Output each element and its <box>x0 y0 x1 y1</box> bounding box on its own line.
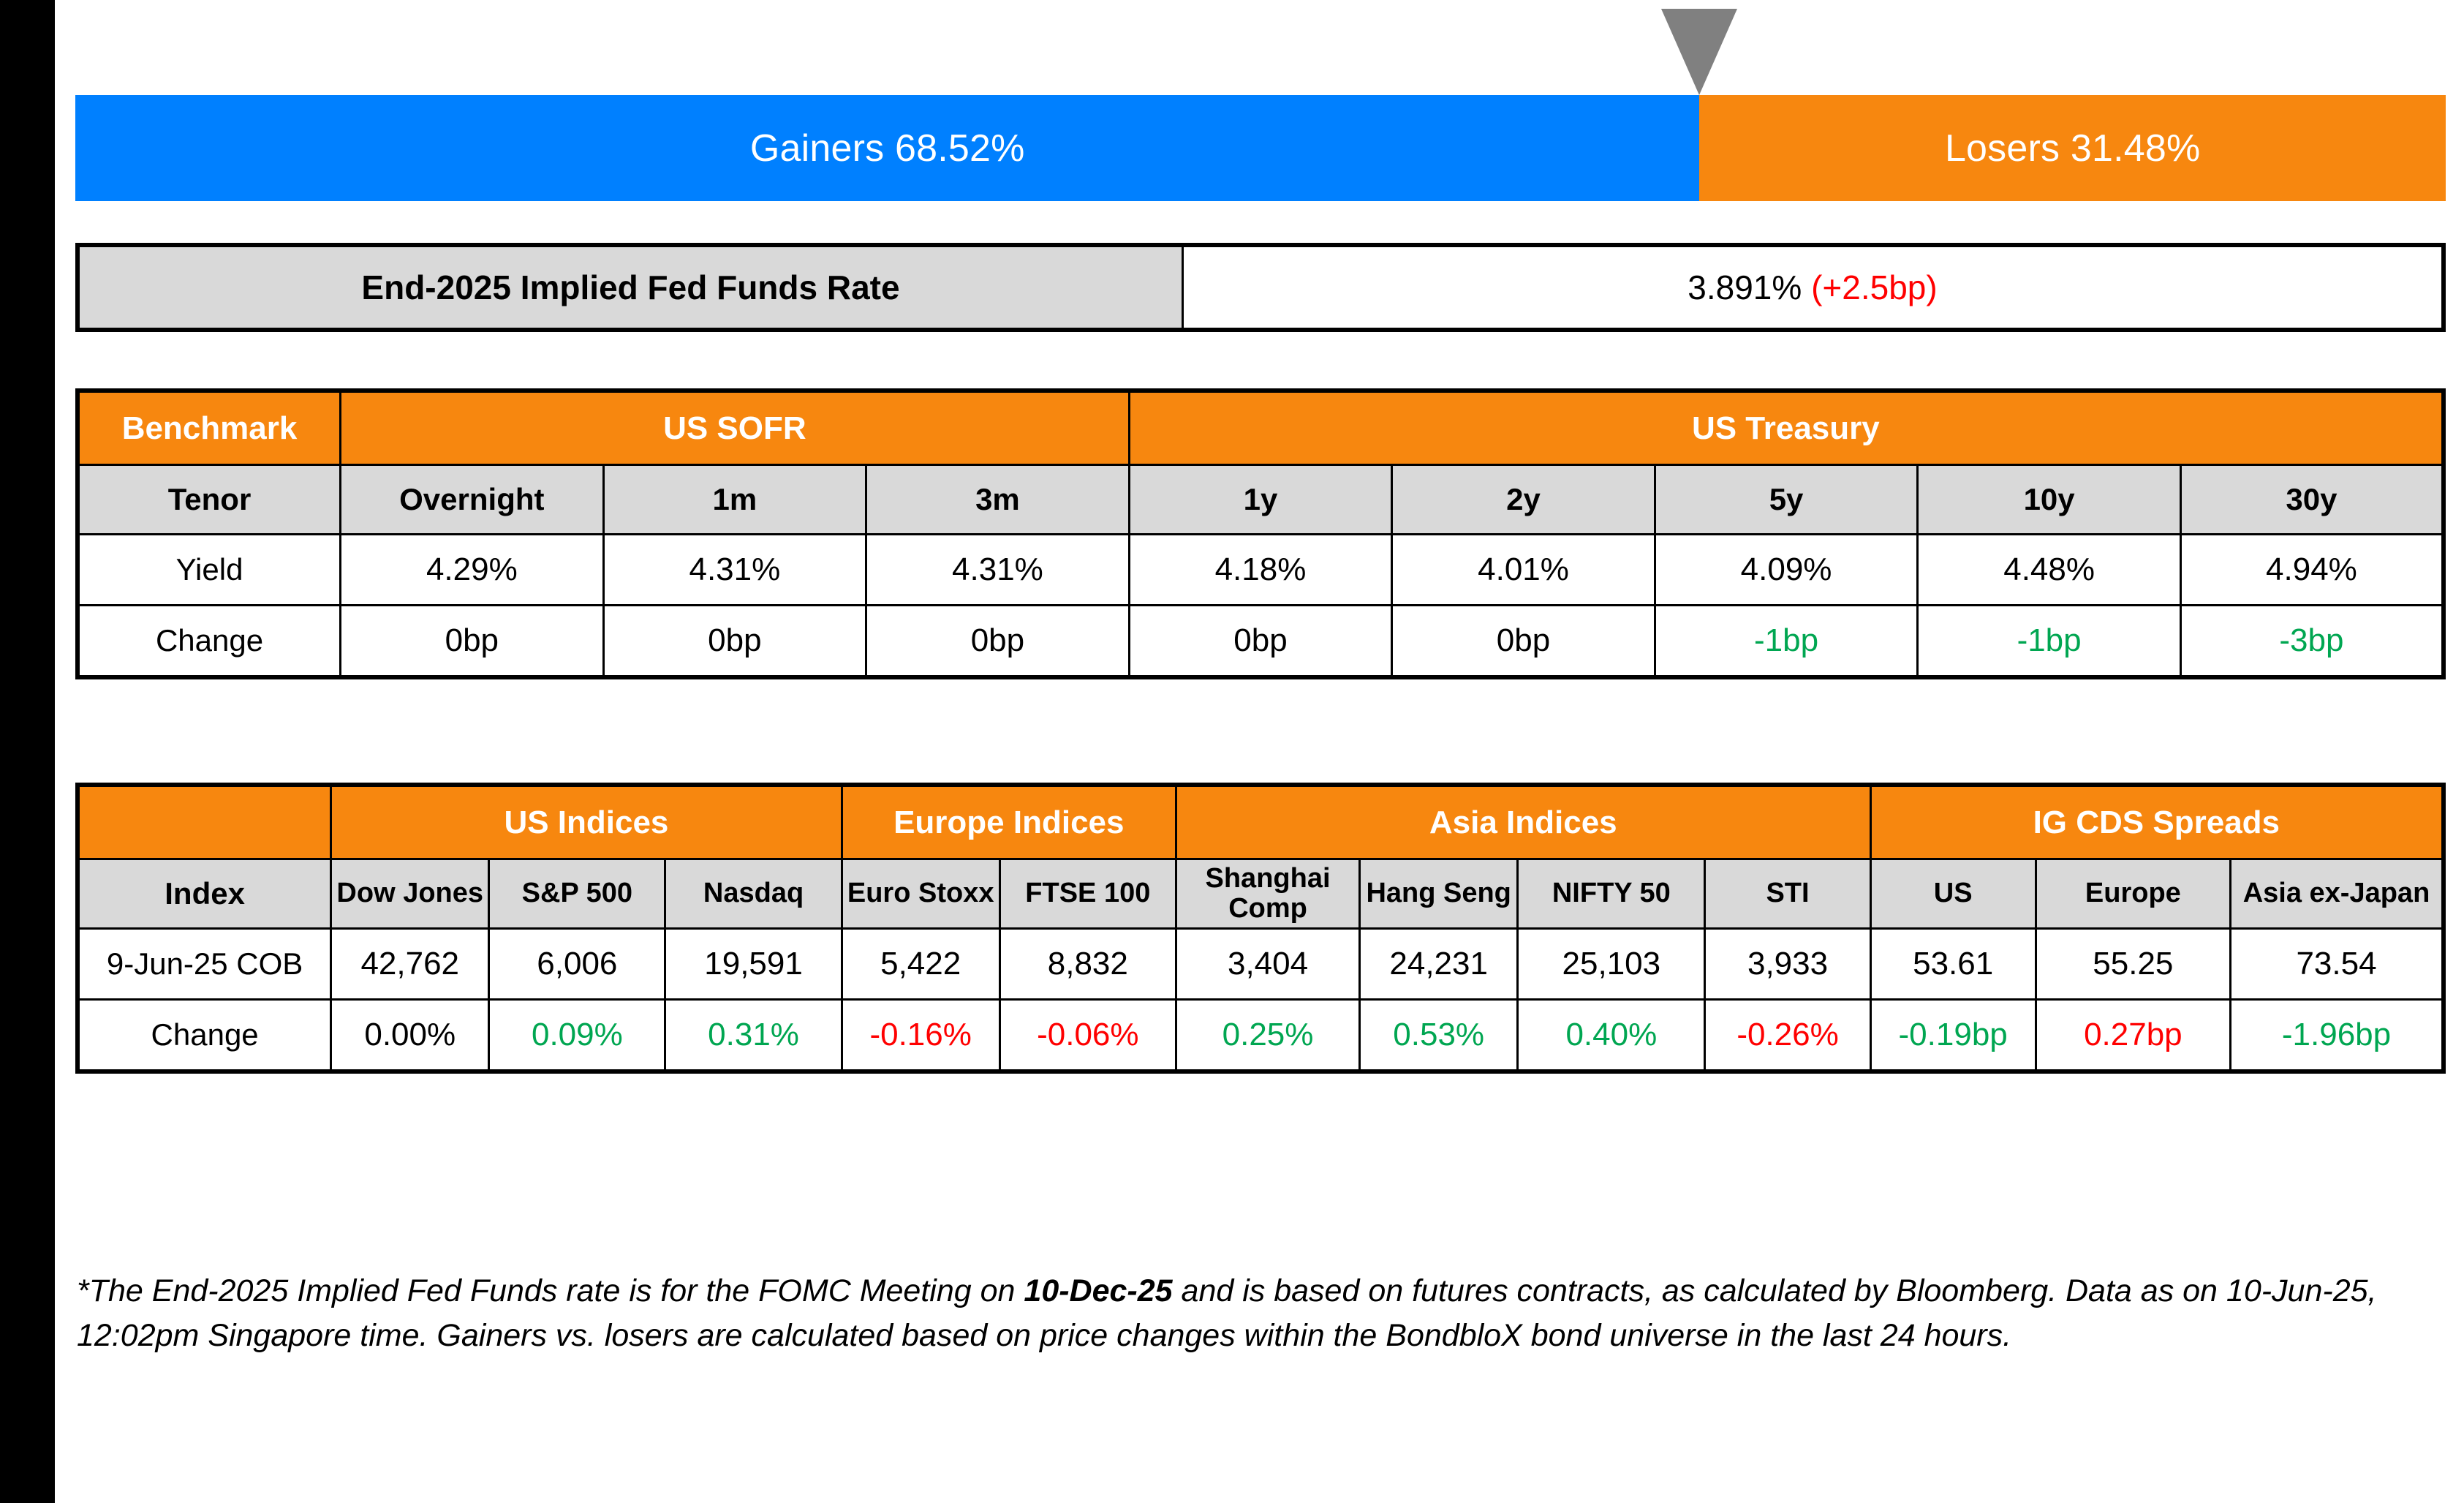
benchmark-tenor-1m: 1m <box>603 465 866 535</box>
benchmark-change-value: -3bp <box>2180 606 2444 678</box>
benchmark-change-value: 0bp <box>1129 606 1392 678</box>
indices-group-us-indices: US Indices <box>331 785 842 859</box>
indices-cob-value: 25,103 <box>1518 929 1705 1000</box>
benchmark-tenor-label: Tenor <box>78 465 341 535</box>
indices-change-value: 0.25% <box>1176 1000 1359 1072</box>
fed-funds-value-cell: 3.891% (+2.5bp) <box>1183 245 2444 330</box>
benchmark-group-us-treasury: US Treasury <box>1129 391 2444 465</box>
indices-change-value: -0.19bp <box>1870 1000 2036 1072</box>
footnote-bold-date: 10-Dec-25 <box>1024 1273 1172 1308</box>
indices-cob-value: 53.61 <box>1870 929 2036 1000</box>
indices-column-nasdaq: Nasdaq <box>665 859 842 929</box>
benchmark-yield-value: 4.48% <box>1918 535 2181 606</box>
benchmark-yield-value: 4.29% <box>341 535 604 606</box>
indices-cob-value: 6,006 <box>489 929 665 1000</box>
benchmark-tenor-2y: 2y <box>1392 465 1655 535</box>
benchmark-change-value: -1bp <box>1655 606 1918 678</box>
indices-change-label: Change <box>78 1000 331 1072</box>
indices-column-header-row: Index Dow JonesS&P 500NasdaqEuro StoxxFT… <box>78 859 2444 929</box>
split-marker-triangle-icon <box>1661 9 1737 95</box>
indices-corner-label <box>78 785 331 859</box>
benchmark-yield-value: 4.94% <box>2180 535 2444 606</box>
indices-change-value: 0.40% <box>1518 1000 1705 1072</box>
indices-cob-value: 42,762 <box>331 929 489 1000</box>
benchmark-change-value: 0bp <box>341 606 604 678</box>
indices-change-value: 0.09% <box>489 1000 665 1072</box>
losers-segment: Losers 31.48% <box>1699 95 2446 201</box>
indices-cob-value: 24,231 <box>1360 929 1518 1000</box>
indices-column-nifty-50: NIFTY 50 <box>1518 859 1705 929</box>
indices-change-value: -0.16% <box>842 1000 999 1072</box>
indices-column-s-p-500: S&P 500 <box>489 859 665 929</box>
fed-funds-label: End-2025 Implied Fed Funds Rate <box>78 245 1183 330</box>
market-indices-table: US IndicesEurope IndicesAsia IndicesIG C… <box>75 783 2446 1074</box>
footnote: *The End-2025 Implied Fed Funds rate is … <box>77 1269 2402 1358</box>
benchmark-change-value: 0bp <box>603 606 866 678</box>
indices-cob-value: 3,404 <box>1176 929 1359 1000</box>
indices-index-label: Index <box>78 859 331 929</box>
indices-group-asia-indices: Asia Indices <box>1176 785 1870 859</box>
benchmark-tenor-5y: 5y <box>1655 465 1918 535</box>
indices-change-value: 0.00% <box>331 1000 489 1072</box>
fed-funds-row: End-2025 Implied Fed Funds Rate 3.891% (… <box>78 245 2444 330</box>
indices-column-euro-stoxx: Euro Stoxx <box>842 859 999 929</box>
benchmark-corner-label: Benchmark <box>78 391 341 465</box>
benchmark-rates-table: Benchmark US SOFR US Treasury Tenor Over… <box>75 388 2446 679</box>
benchmark-change-row: Change 0bp0bp0bp0bp0bp-1bp-1bp-3bp <box>78 606 2444 678</box>
benchmark-tenor-30y: 30y <box>2180 465 2444 535</box>
indices-column-shanghai-comp: Shanghai Comp <box>1176 859 1359 929</box>
losers-label: Losers 31.48% <box>1945 127 2201 170</box>
benchmark-change-value: 0bp <box>1392 606 1655 678</box>
dashboard-page: Gainers 68.52% Losers 31.48% End-2025 Im… <box>75 0 2446 1503</box>
indices-change-value: 0.31% <box>665 1000 842 1072</box>
indices-column-dow-jones: Dow Jones <box>331 859 489 929</box>
indices-change-value: 0.27bp <box>2036 1000 2230 1072</box>
benchmark-yield-value: 4.18% <box>1129 535 1392 606</box>
gainers-label: Gainers 68.52% <box>750 127 1025 170</box>
indices-group-header-row: US IndicesEurope IndicesAsia IndicesIG C… <box>78 785 2444 859</box>
benchmark-tenor-header-row: Tenor Overnight1m3m1y2y5y10y30y <box>78 465 2444 535</box>
benchmark-change-label: Change <box>78 606 341 678</box>
fed-funds-rate: 3.891% <box>1688 268 1802 306</box>
indices-cob-value: 3,933 <box>1705 929 1870 1000</box>
benchmark-group-us-sofr: US SOFR <box>341 391 1130 465</box>
benchmark-group-header-row: Benchmark US SOFR US Treasury <box>78 391 2444 465</box>
gainers-segment: Gainers 68.52% <box>75 95 1699 201</box>
benchmark-yield-label: Yield <box>78 535 341 606</box>
indices-column-europe: Europe <box>2036 859 2230 929</box>
indices-column-sti: STI <box>1705 859 1870 929</box>
benchmark-yield-value: 4.31% <box>866 535 1130 606</box>
indices-column-hang-seng: Hang Seng <box>1360 859 1518 929</box>
benchmark-yield-value: 4.01% <box>1392 535 1655 606</box>
benchmark-tenor-1y: 1y <box>1129 465 1392 535</box>
indices-group-europe-indices: Europe Indices <box>842 785 1176 859</box>
indices-column-us: US <box>1870 859 2036 929</box>
benchmark-tenor-10y: 10y <box>1918 465 2181 535</box>
benchmark-yield-value: 4.31% <box>603 535 866 606</box>
indices-change-value: 0.53% <box>1360 1000 1518 1072</box>
indices-change-value: -0.06% <box>999 1000 1176 1072</box>
benchmark-change-value: -1bp <box>1918 606 2181 678</box>
benchmark-yield-value: 4.09% <box>1655 535 1918 606</box>
indices-cob-value: 19,591 <box>665 929 842 1000</box>
benchmark-yield-row: Yield 4.29%4.31%4.31%4.18%4.01%4.09%4.48… <box>78 535 2444 606</box>
left-black-bar <box>0 0 55 1503</box>
gainers-losers-bar: Gainers 68.52% Losers 31.48% <box>75 95 2446 201</box>
benchmark-change-value: 0bp <box>866 606 1130 678</box>
indices-cob-label: 9-Jun-25 COB <box>78 929 331 1000</box>
fed-funds-table: End-2025 Implied Fed Funds Rate 3.891% (… <box>75 243 2446 332</box>
indices-change-value: -0.26% <box>1705 1000 1870 1072</box>
indices-cob-value: 73.54 <box>2231 929 2444 1000</box>
sentiment-bar-track: Gainers 68.52% Losers 31.48% <box>75 95 2446 201</box>
indices-group-ig-cds-spreads: IG CDS Spreads <box>1870 785 2444 859</box>
indices-cob-value: 55.25 <box>2036 929 2230 1000</box>
indices-column-asia-ex-japan: Asia ex-Japan <box>2231 859 2444 929</box>
indices-change-row: Change 0.00%0.09%0.31%-0.16%-0.06%0.25%0… <box>78 1000 2444 1072</box>
indices-cob-row: 9-Jun-25 COB 42,7626,00619,5915,4228,832… <box>78 929 2444 1000</box>
fed-funds-change: (+2.5bp) <box>1811 268 1938 306</box>
indices-column-ftse-100: FTSE 100 <box>999 859 1176 929</box>
benchmark-tenor-overnight: Overnight <box>341 465 604 535</box>
benchmark-tenor-3m: 3m <box>866 465 1130 535</box>
indices-cob-value: 8,832 <box>999 929 1176 1000</box>
indices-cob-value: 5,422 <box>842 929 999 1000</box>
indices-change-value: -1.96bp <box>2231 1000 2444 1072</box>
footnote-part1: *The End-2025 Implied Fed Funds rate is … <box>77 1273 1024 1308</box>
